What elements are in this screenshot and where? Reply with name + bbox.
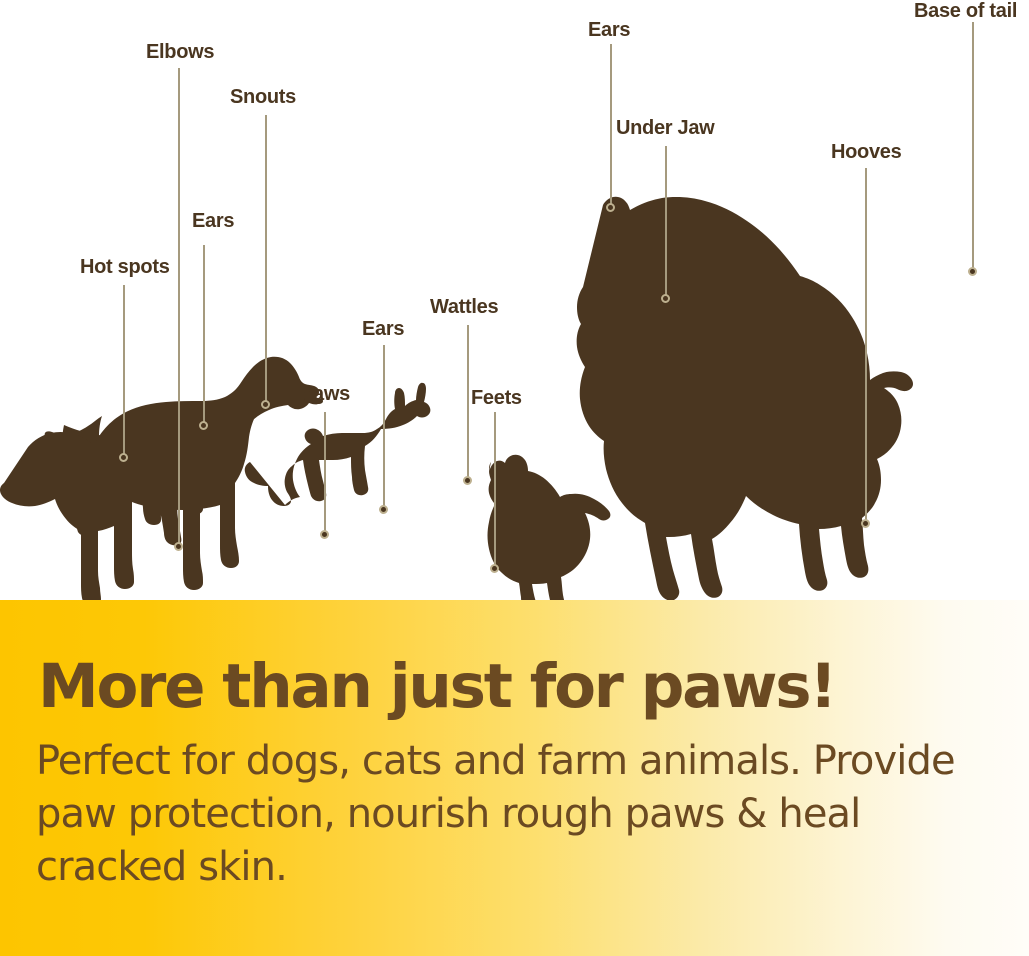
callout-label-wattles[interactable]: Wattles: [430, 297, 498, 317]
callout-label-under-jaw[interactable]: Under Jaw: [616, 118, 714, 138]
anchor-paws: [320, 530, 329, 539]
banner-body-line-2: paw protection, nourish rough paws & hea…: [36, 788, 996, 841]
callout-label-hooves[interactable]: Hooves: [831, 142, 901, 162]
banner-body-line-1: Perfect for dogs, cats and farm animals.…: [36, 735, 996, 788]
leader-line-hot-spots: [123, 285, 125, 457]
anchor-horse-ears: [606, 203, 615, 212]
leader-line-base-of-tail: [972, 22, 974, 271]
anchor-wattles: [463, 476, 472, 485]
callout-label-feets[interactable]: Feets: [471, 388, 522, 408]
anchor-elbows: [174, 542, 183, 551]
callout-label-elbows[interactable]: Elbows: [146, 42, 214, 62]
leader-line-paws: [324, 412, 326, 534]
leader-line-snouts: [265, 115, 267, 404]
leader-line-elbows: [178, 68, 180, 546]
banner-headline: More than just for paws!: [38, 656, 835, 717]
promo-banner: More than just for paws! Perfect for dog…: [0, 600, 1029, 956]
anchor-under-jaw: [661, 294, 670, 303]
leader-line-under-jaw: [665, 146, 667, 298]
callout-label-dog-ears[interactable]: Ears: [192, 211, 234, 231]
horse-silhouette: [577, 197, 913, 600]
callout-label-snouts[interactable]: Snouts: [230, 87, 296, 107]
callout-label-base-of-tail[interactable]: Base of tail: [914, 1, 1017, 21]
dog-body-mass: [0, 357, 319, 600]
anchor-snouts: [261, 400, 270, 409]
animal-silhouettes: [0, 0, 1029, 600]
animal-diagram-panel: Hot spots Elbows Ears Snouts Paws Ears W…: [0, 0, 1029, 600]
callout-label-cat-ears[interactable]: Ears: [362, 319, 404, 339]
chicken-silhouette: [488, 455, 611, 600]
callout-label-hot-spots[interactable]: Hot spots: [80, 257, 170, 277]
banner-body-copy: Perfect for dogs, cats and farm animals.…: [36, 735, 996, 895]
leader-line-horse-ears: [610, 44, 612, 207]
anchor-cat-ears: [379, 505, 388, 514]
leader-line-wattles: [467, 325, 469, 480]
anchor-hooves: [861, 519, 870, 528]
product-infographic: Hot spots Elbows Ears Snouts Paws Ears W…: [0, 0, 1029, 956]
leader-line-cat-ears: [383, 345, 385, 509]
leader-line-feets: [494, 412, 496, 568]
anchor-feets: [490, 564, 499, 573]
banner-body-line-3: cracked skin.: [36, 841, 996, 894]
callout-label-horse-ears[interactable]: Ears: [588, 20, 630, 40]
anchor-base-of-tail: [968, 267, 977, 276]
anchor-dog-ears: [199, 421, 208, 430]
callout-label-paws[interactable]: Paws: [300, 384, 350, 404]
leader-line-hooves: [865, 168, 867, 523]
leader-line-dog-ears: [203, 245, 205, 425]
anchor-hot-spots: [119, 453, 128, 462]
